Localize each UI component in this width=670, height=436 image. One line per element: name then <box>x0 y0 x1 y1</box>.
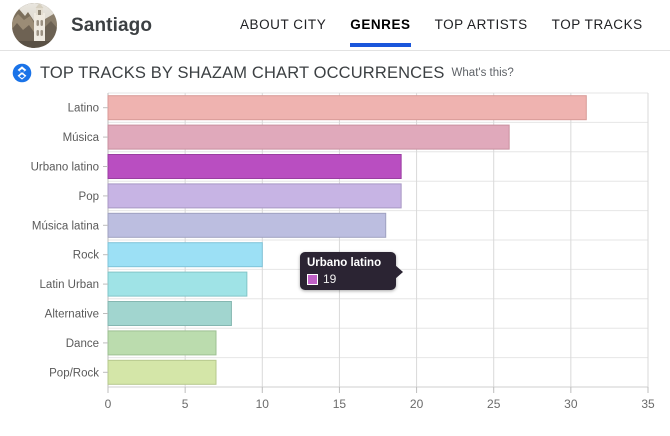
x-axis-tick-label: 0 <box>105 397 112 411</box>
chart-tooltip: Urbano latino 19 <box>300 252 396 290</box>
avatar <box>12 3 57 48</box>
bar[interactable] <box>108 360 216 384</box>
brand-name: Santiago <box>71 15 152 37</box>
bar[interactable] <box>108 125 509 149</box>
tooltip-value-row: 19 <box>307 273 389 285</box>
y-axis-tick-label: Latino <box>68 103 99 115</box>
tooltip-color-swatch <box>307 274 318 285</box>
tab-top-artists-label: TOP ARTISTS <box>435 17 528 32</box>
x-axis-tick-label: 20 <box>410 397 424 411</box>
x-axis-tick-label: 25 <box>487 397 501 411</box>
tab-genres[interactable]: GENRES <box>338 0 422 51</box>
y-axis-tick-label: Alternative <box>45 309 99 321</box>
avatar-city-photo-icon <box>12 3 57 48</box>
bar[interactable] <box>108 213 386 237</box>
x-axis-tick-label: 10 <box>256 397 270 411</box>
chart-title: TOP TRACKS BY SHAZAM CHART OCCURRENCES <box>40 64 445 83</box>
shazam-icon <box>12 63 32 83</box>
x-axis-tick-label: 5 <box>182 397 189 411</box>
x-axis-tick-label: 30 <box>564 397 578 411</box>
tab-top-artists[interactable]: TOP ARTISTS <box>423 0 540 51</box>
brand: Santiago <box>12 3 152 48</box>
y-axis-tick-label: Urbano latino <box>31 162 99 174</box>
tab-genres-label: GENRES <box>350 17 410 32</box>
active-tab-underline <box>350 43 410 47</box>
tab-about-city[interactable]: ABOUT CITY <box>228 0 338 51</box>
y-axis-tick-label: Latin Urban <box>40 279 99 291</box>
y-axis-tick-label: Música latina <box>32 220 100 232</box>
tab-top-tracks[interactable]: TOP TRACKS <box>540 0 655 51</box>
chart-header: TOP TRACKS BY SHAZAM CHART OCCURRENCES W… <box>0 51 670 85</box>
y-axis-tick-label: Rock <box>73 250 99 262</box>
chart-container: LatinoMúsicaUrbano latinoPopMúsica latin… <box>0 85 670 430</box>
bar[interactable] <box>108 96 586 120</box>
site-header: Santiago ABOUT CITY GENRES TOP ARTISTS T… <box>0 0 670 51</box>
tooltip-title: Urbano latino <box>307 256 389 270</box>
bar[interactable] <box>108 272 247 296</box>
y-axis-tick-label: Pop/Rock <box>49 367 99 379</box>
y-axis-tick-label: Pop <box>79 191 99 203</box>
x-axis-tick-label: 15 <box>333 397 347 411</box>
tooltip-value: 19 <box>323 273 336 285</box>
bar[interactable] <box>108 243 262 267</box>
bar[interactable] <box>108 155 401 179</box>
tab-top-tracks-label: TOP TRACKS <box>552 17 643 32</box>
bar[interactable] <box>108 331 216 355</box>
y-axis-tick-label: Dance <box>66 338 99 350</box>
bar[interactable] <box>108 302 231 326</box>
x-axis-tick-label: 35 <box>641 397 655 411</box>
tab-about-city-label: ABOUT CITY <box>240 17 326 32</box>
nav-tabs: ABOUT CITY GENRES TOP ARTISTS TOP TRACKS <box>228 0 655 51</box>
whats-this-link[interactable]: What's this? <box>452 67 514 80</box>
y-axis-tick-label: Música <box>63 132 100 144</box>
bar[interactable] <box>108 184 401 208</box>
